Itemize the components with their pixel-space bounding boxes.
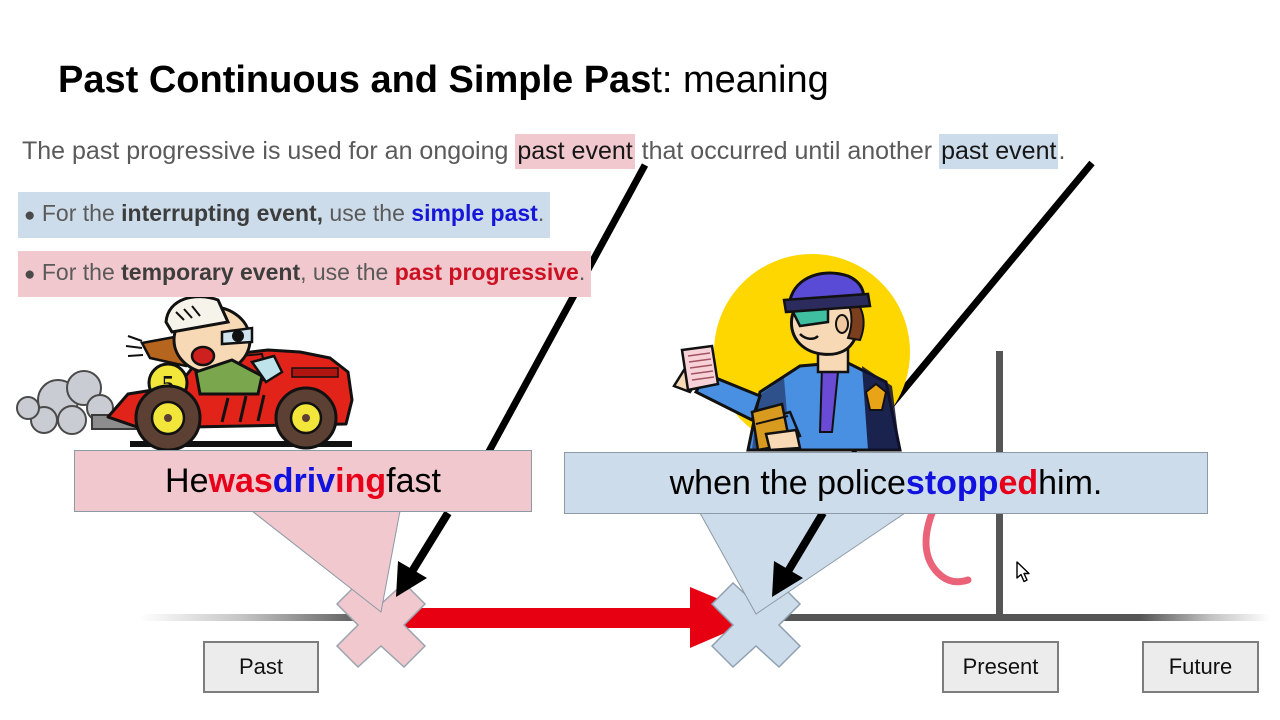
- page-title-bold: Past Continuous and Simple Pas: [58, 59, 651, 101]
- bullet-marker-icon: ●: [24, 264, 35, 285]
- bubble-left-seg-was: was: [209, 462, 273, 501]
- page-title-rest: t: meaning: [651, 59, 828, 101]
- bullet-temporary-event: ● For the temporary event, use the past …: [18, 251, 591, 297]
- timeline-label-past: Past: [203, 641, 319, 693]
- intro-part-1: The past progressive is used for an ongo…: [22, 137, 515, 165]
- bullet-0-tail: .: [538, 200, 544, 226]
- bullet-0-mid: use the: [323, 200, 411, 226]
- police-officer-illustration: [674, 254, 910, 450]
- intro-highlight-past-event-pink: past event: [515, 134, 634, 169]
- speech-bubble-past-progressive: He was driving fast: [74, 450, 532, 512]
- bubble-left-seg-driv: driv: [273, 462, 335, 501]
- pink-annotation-stroke: [926, 513, 968, 582]
- bubble-right-seg-ed: ed: [998, 464, 1038, 503]
- bullet-0-bold: interrupting event,: [121, 200, 323, 226]
- intro-part-3: .: [1058, 137, 1065, 165]
- slide-canvas: 5: [0, 0, 1280, 720]
- race-car-illustration: 5: [17, 297, 352, 450]
- intro-highlight-past-event-blue: past event: [939, 134, 1058, 169]
- bubble-right-seg-him: him.: [1038, 464, 1102, 503]
- duration-arrow: [390, 587, 762, 648]
- bubble-right-seg-stopp: stopp: [906, 464, 999, 503]
- bubble-left-seg-ing: ing: [335, 462, 386, 501]
- bubble-right-seg-1: when the police: [670, 464, 906, 503]
- arrow-to-past-marker: [396, 513, 448, 597]
- slide-graphics-layer: 5: [0, 0, 1280, 720]
- bubble-tail-left: [252, 511, 400, 612]
- intro-part-2: that occurred until another: [635, 137, 939, 165]
- bullet-1-mid: , use the: [300, 259, 395, 285]
- bullet-0-lead: For the: [42, 200, 121, 226]
- speech-bubble-simple-past: when the police stopped him.: [564, 452, 1208, 514]
- bullet-1-lead: For the: [42, 259, 121, 285]
- timeline-label-present: Present: [942, 641, 1059, 693]
- bullet-1-bold: temporary event: [121, 259, 300, 285]
- bullet-marker-icon: ●: [24, 205, 35, 226]
- bubble-left-seg-1: He: [165, 462, 208, 501]
- page-title: Past Continuous and Simple Past: meaning: [58, 56, 829, 104]
- bullet-0-accent: simple past: [411, 200, 538, 226]
- mouse-pointer-icon: [1016, 561, 1032, 583]
- timeline-label-future: Future: [1142, 641, 1259, 693]
- bullet-interrupting-event: ● For the interrupting event, use the si…: [18, 192, 550, 238]
- bubble-left-seg-fast: fast: [386, 462, 441, 501]
- bullet-1-accent: past progressive: [395, 259, 579, 285]
- intro-sentence: The past progressive is used for an ongo…: [22, 134, 1065, 168]
- bullet-1-tail: .: [579, 259, 585, 285]
